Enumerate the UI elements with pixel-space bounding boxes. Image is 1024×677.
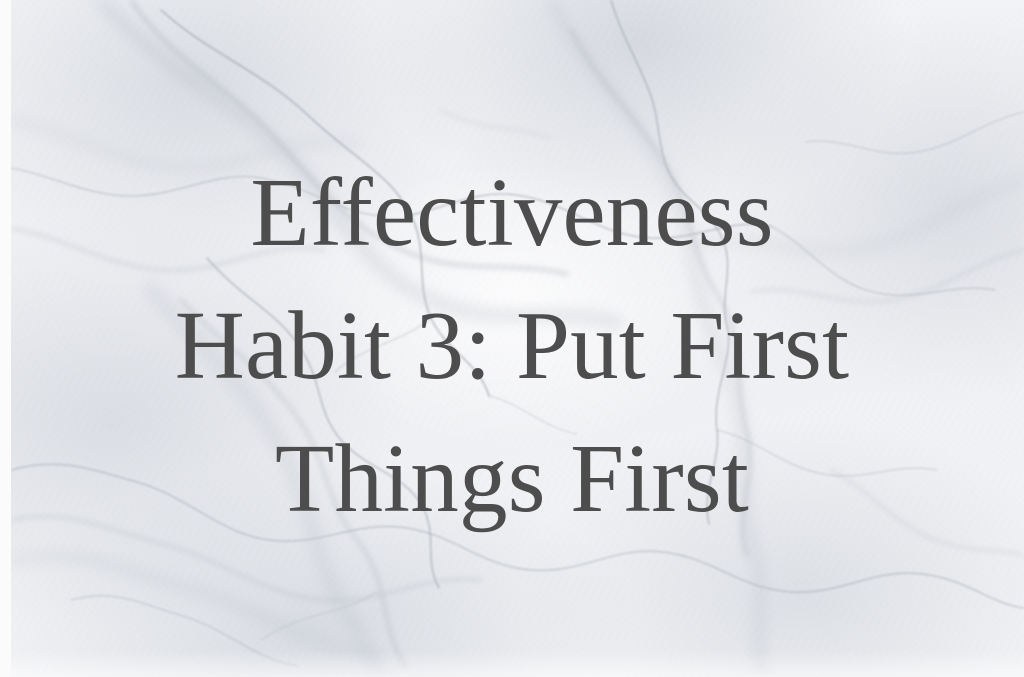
headline-line-2: Habit 3: Put First <box>175 279 850 412</box>
slide-canvas: Effectiveness Habit 3: Put First Things … <box>0 0 1024 677</box>
headline-block: Effectiveness Habit 3: Put First Things … <box>0 0 1024 677</box>
headline-line-1: Effectiveness <box>250 146 773 279</box>
headline-line-3: Things First <box>275 412 749 545</box>
